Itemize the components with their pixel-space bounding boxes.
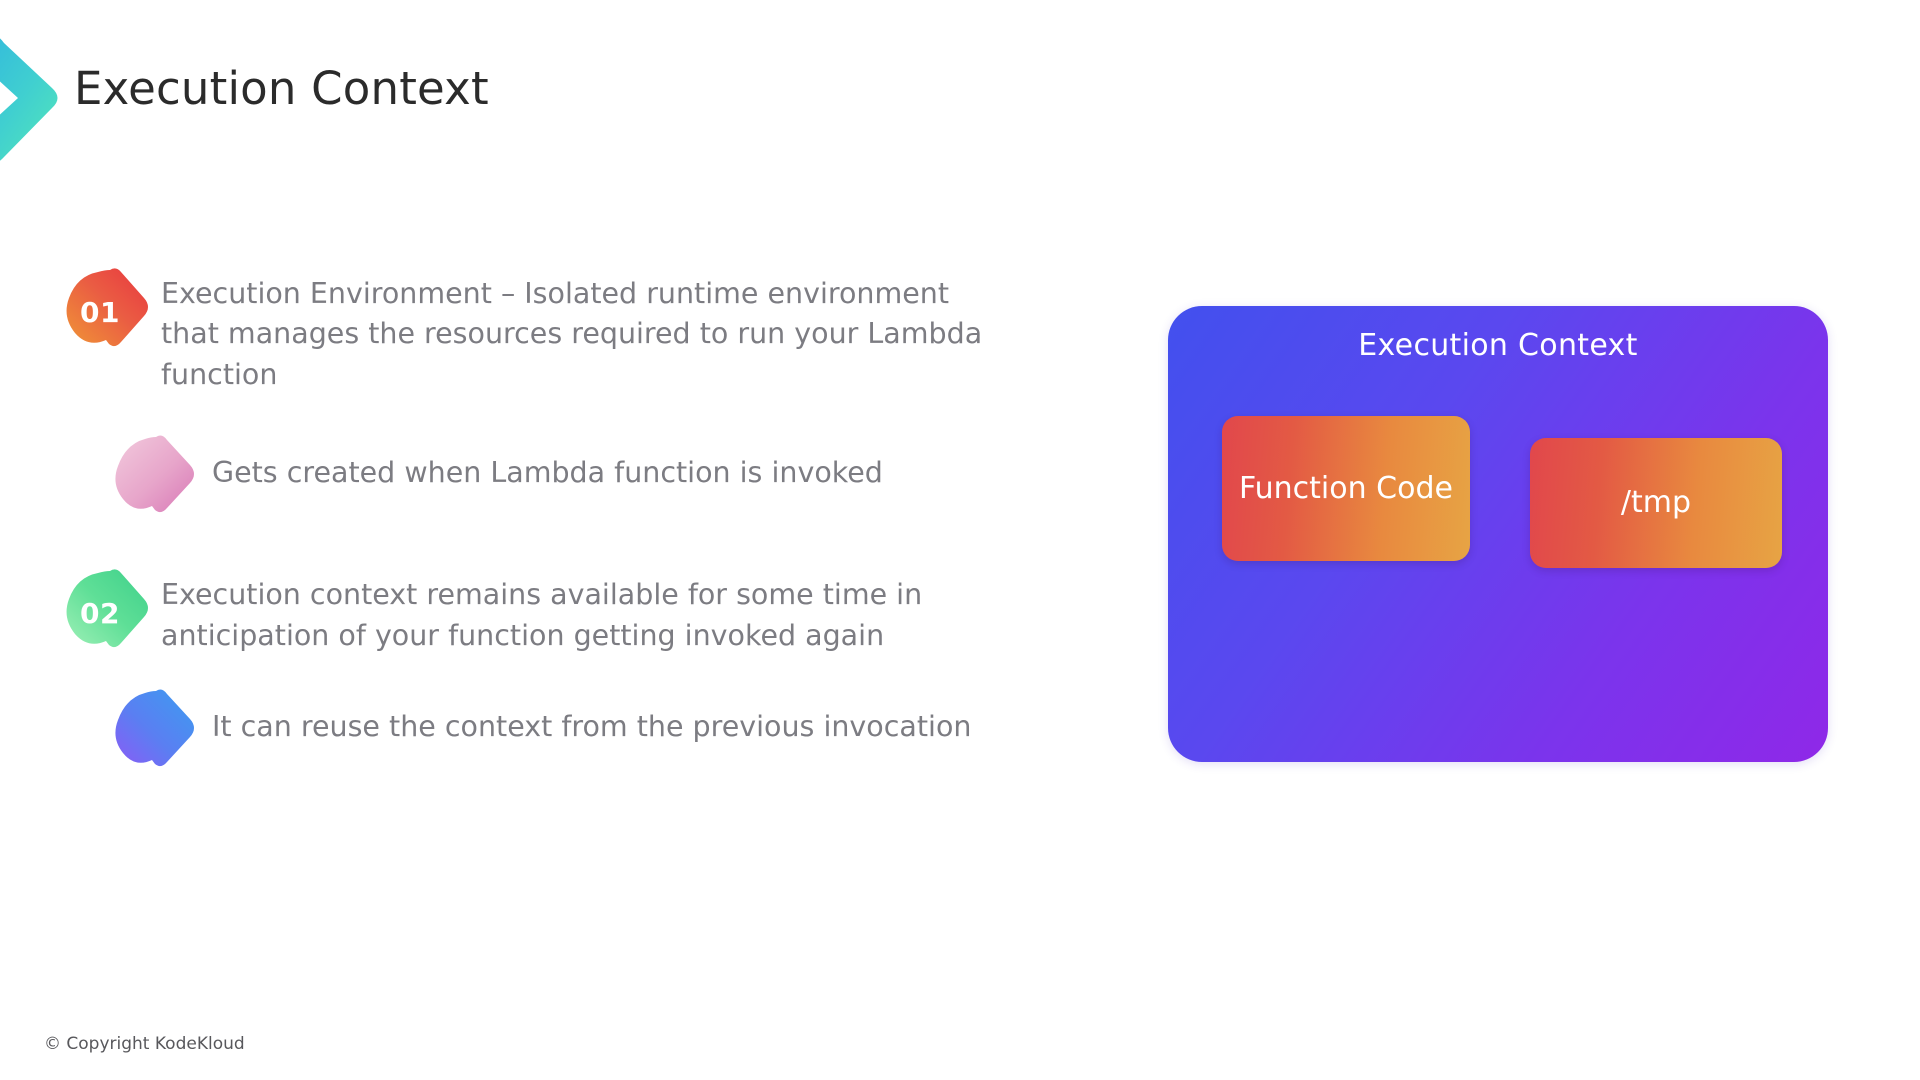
bullet-text: Execution context remains available for …: [161, 563, 991, 656]
diagram-box-function-code: Function Code: [1222, 416, 1470, 561]
diagram-inner-boxes: Function Code /tmp: [1222, 416, 1782, 568]
bullet-marker-02-icon: 02: [60, 563, 156, 659]
diagram-title: Execution Context: [1168, 328, 1828, 363]
list-item: 02 Execution context remains available f…: [60, 563, 1070, 659]
bullet-marker-01-icon: 01: [60, 262, 156, 358]
list-item: Gets created when Lambda function is inv…: [110, 431, 1070, 523]
bullet-marker-number: 01: [80, 296, 120, 329]
bullet-list: 01 Execution Environment – Isolated runt…: [60, 262, 1070, 777]
chevron-accent-icon: [0, 26, 66, 166]
list-item: 01 Execution Environment – Isolated runt…: [60, 262, 1070, 395]
list-item: It can reuse the context from the previo…: [110, 685, 1070, 777]
slide-root: Execution Context 01 Execution E: [0, 0, 1920, 1080]
diagram-box-tmp: /tmp: [1530, 438, 1782, 568]
execution-context-diagram: Execution Context Function Code /tmp: [1168, 306, 1828, 762]
spacer: [60, 659, 1070, 685]
page-title: Execution Context: [74, 62, 489, 116]
spacer: [60, 523, 1070, 563]
footer-copyright: © Copyright KodeKloud: [44, 1034, 245, 1054]
bullet-marker-sub-pink-icon: [110, 431, 202, 523]
bullet-text: Gets created when Lambda function is inv…: [212, 431, 1002, 493]
bullet-text: It can reuse the context from the previo…: [212, 685, 1002, 747]
bullet-marker-sub-blue-icon: [110, 685, 202, 777]
spacer: [60, 395, 1070, 431]
bullet-text: Execution Environment – Isolated runtime…: [161, 262, 991, 395]
bullet-marker-number: 02: [80, 597, 120, 630]
